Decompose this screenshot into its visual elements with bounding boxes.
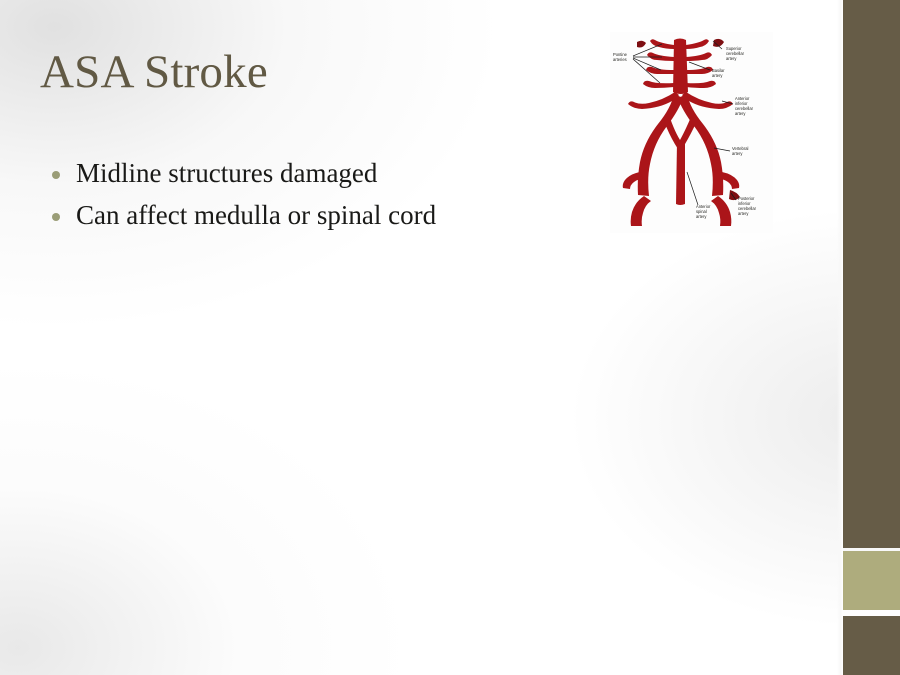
bullet-text: Midline structures damaged xyxy=(76,157,377,190)
svg-text:artery: artery xyxy=(735,111,746,116)
list-item: Midline structures damaged xyxy=(52,157,592,190)
svg-text:artery: artery xyxy=(738,211,749,216)
slide-title: ASA Stroke xyxy=(40,46,268,99)
bullet-dot-icon xyxy=(52,171,60,179)
svg-text:artery: artery xyxy=(732,151,743,156)
bullet-text: Can affect medulla or spinal cord xyxy=(76,199,436,232)
presentation-slide: ASA Stroke Midline structures damaged Ca… xyxy=(0,0,900,675)
bullet-dot-icon xyxy=(52,213,60,221)
svg-text:arteries: arteries xyxy=(613,57,627,62)
bullet-list: Midline structures damaged Can affect me… xyxy=(52,157,592,241)
sidebar-band-bottom xyxy=(843,616,900,675)
list-item: Can affect medulla or spinal cord xyxy=(52,199,592,232)
sidebar-band-accent xyxy=(843,551,900,610)
svg-text:artery: artery xyxy=(696,214,707,219)
svg-text:artery: artery xyxy=(726,56,737,61)
decorative-sidebar xyxy=(843,0,900,675)
svg-text:artery: artery xyxy=(712,73,723,78)
vertebrobasilar-artery-diagram: Pontine arteries Superior cerebellar art… xyxy=(610,32,773,233)
label-pontine-arteries: Pontine arteries xyxy=(613,52,628,62)
sidebar-band-top xyxy=(843,0,900,548)
